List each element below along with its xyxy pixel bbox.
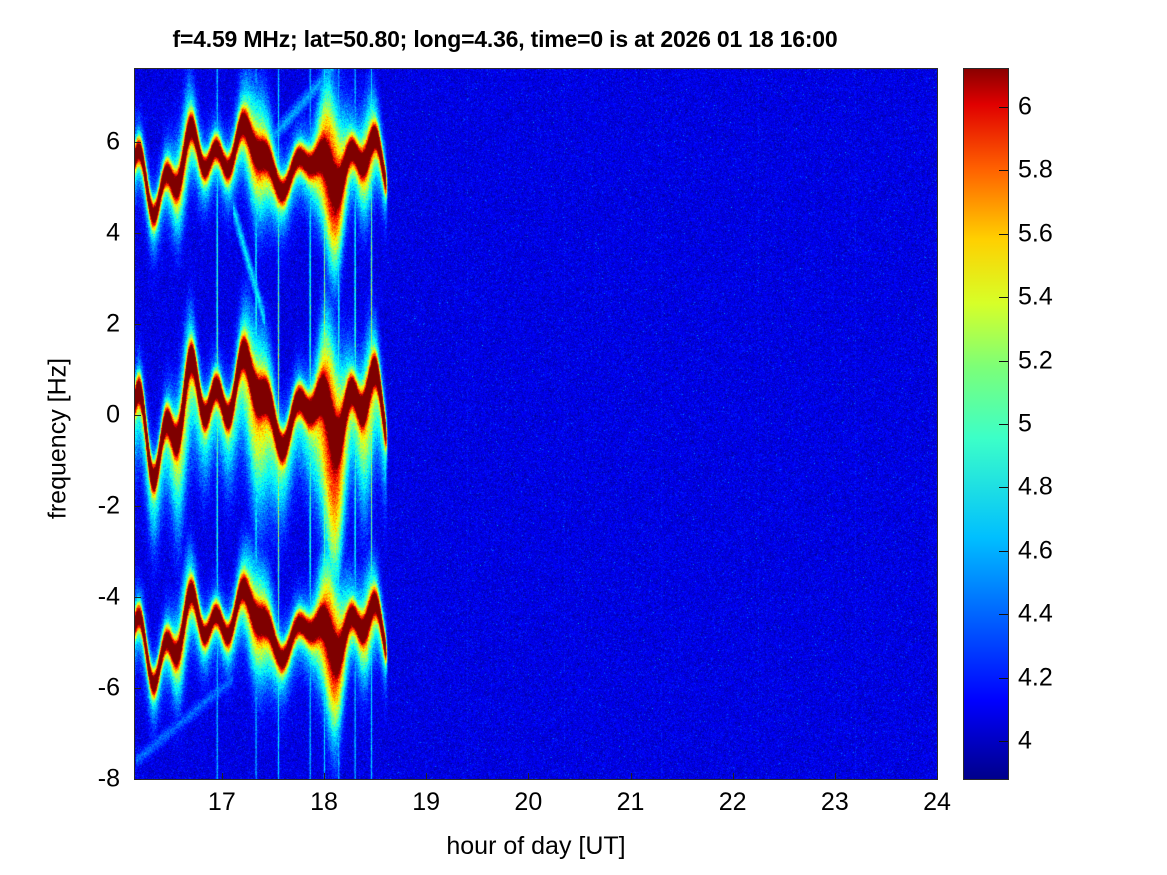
colorbar-tick-mark [999,614,1008,615]
colorbar-tick-mark [999,551,1008,552]
plot-area [134,68,938,780]
x-tick-mark [528,773,529,780]
y-tick-label: 4 [60,218,120,247]
x-tick-label: 21 [591,788,671,817]
colorbar-tick-mark [999,361,1008,362]
colorbar-tick-mark [999,487,1008,488]
x-tick-label: 19 [386,788,466,817]
colorbar-tick-mark [999,107,1008,108]
x-tick-label: 24 [897,788,977,817]
x-axis-label: hour of day [UT] [134,832,938,861]
spectrogram-image [135,69,937,779]
y-tick-label: 6 [60,127,120,156]
x-tick-mark [324,773,325,780]
page-title: f=4.59 MHz; lat=50.80; long=4.36, time=0… [0,26,1010,53]
x-tick-label: 22 [693,788,773,817]
y-tick-label: 0 [60,400,120,429]
colorbar-tick-label: 5.2 [1018,346,1053,375]
colorbar-tick-label: 5.8 [1018,156,1053,185]
x-tick-label: 18 [284,788,364,817]
colorbar-tick-label: 4.6 [1018,536,1053,565]
colorbar-tick-mark [999,234,1008,235]
y-tick-label: -8 [60,765,120,794]
x-tick-label: 20 [488,788,568,817]
colorbar-tick-label: 4.8 [1018,473,1053,502]
colorbar-tick-label: 5 [1018,410,1032,439]
colorbar-tick-label: 5.4 [1018,283,1053,312]
colorbar-tick-mark [999,424,1008,425]
y-tick-mark [134,142,141,143]
x-tick-mark [426,773,427,780]
y-tick-mark [134,597,141,598]
colorbar-tick-label: 5.6 [1018,219,1053,248]
y-tick-mark [134,506,141,507]
colorbar-tick-label: 4.2 [1018,663,1053,692]
y-tick-label: -4 [60,582,120,611]
colorbar-tick-label: 6 [1018,93,1032,122]
spectrogram-figure: f=4.59 MHz; lat=50.80; long=4.36, time=0… [0,0,1167,875]
colorbar-tick-mark [999,170,1008,171]
y-tick-mark [134,415,141,416]
x-tick-label: 23 [795,788,875,817]
colorbar-tick-mark [999,678,1008,679]
y-tick-mark [134,779,141,780]
x-tick-label: 17 [182,788,262,817]
colorbar-tick-mark [999,741,1008,742]
y-tick-label: -2 [60,491,120,520]
x-tick-mark [631,773,632,780]
x-tick-mark [733,773,734,780]
colorbar-tick-mark [999,297,1008,298]
x-tick-mark [222,773,223,780]
x-tick-mark [937,773,938,780]
y-axis-label: frequency [Hz] [44,319,73,559]
y-tick-label: -6 [60,673,120,702]
y-tick-mark [134,324,141,325]
colorbar-tick-label: 4.4 [1018,600,1053,629]
colorbar-tick-label: 4 [1018,726,1032,755]
y-tick-label: 2 [60,309,120,338]
x-tick-mark [835,773,836,780]
y-tick-mark [134,233,141,234]
y-tick-mark [134,688,141,689]
